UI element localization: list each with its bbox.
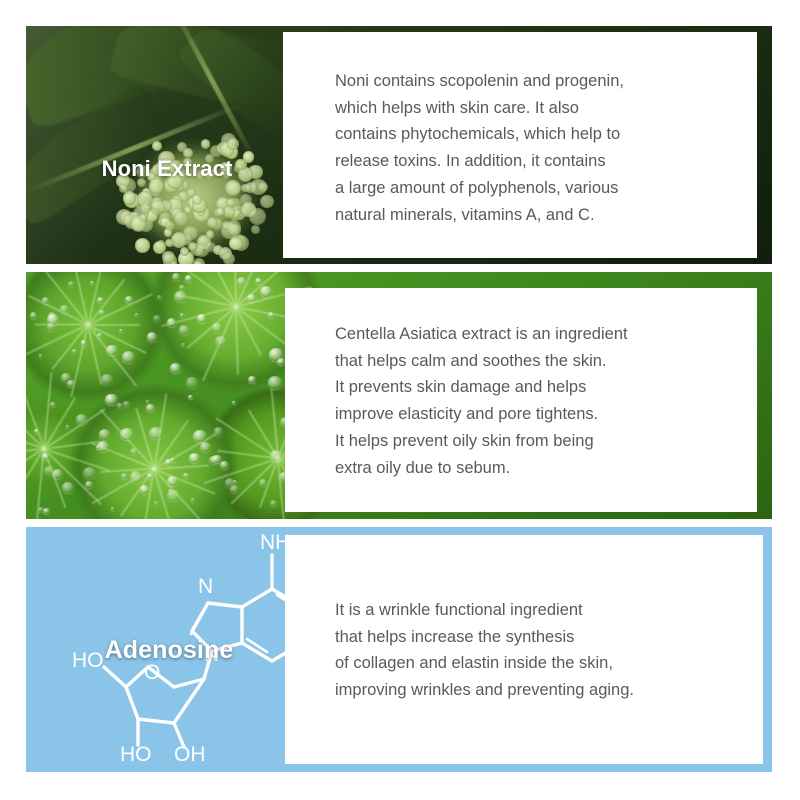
water-droplet [111, 507, 115, 510]
water-droplet [76, 414, 87, 424]
water-droplet [183, 473, 188, 478]
leaf-vein [88, 324, 140, 326]
water-droplet [105, 394, 117, 405]
ingredient-info-graphic: Noni Extract Noni contains scopolenin an… [0, 0, 800, 800]
leaf-vein [26, 324, 88, 356]
water-droplet [180, 313, 184, 317]
water-droplet [174, 291, 187, 303]
water-droplet [191, 498, 195, 502]
text-card-adenosine: It is a wrinkle functional ingredient th… [285, 535, 763, 764]
water-droplet [247, 294, 256, 302]
water-droplet [43, 508, 50, 515]
water-droplet [225, 478, 236, 488]
fruit-bump [251, 225, 260, 234]
water-droplet [153, 315, 161, 322]
fruit-bump [171, 232, 187, 248]
leaf-vein [35, 324, 88, 326]
water-droplet [123, 401, 130, 407]
fruit-bump [207, 217, 217, 227]
water-droplet [185, 275, 192, 282]
water-droplet [259, 479, 267, 486]
water-droplet [42, 297, 49, 303]
fruit-bump [229, 237, 242, 250]
fruit-bump [153, 241, 166, 254]
water-droplet [122, 351, 135, 363]
water-droplet [81, 340, 87, 345]
water-droplet [72, 349, 76, 353]
label-oh-bottom: OH [174, 743, 206, 766]
fruit-bump [170, 261, 178, 264]
water-droplet [197, 314, 206, 322]
water-droplet [268, 376, 282, 389]
water-droplet [120, 428, 134, 441]
water-droplet [68, 281, 74, 287]
fruit-bump [195, 244, 208, 257]
water-droplet [147, 473, 153, 479]
text-card-centella: Centella Asiatica extract is an ingredie… [285, 288, 757, 512]
water-droplet [260, 286, 272, 297]
water-droplet [149, 427, 163, 440]
water-droplet [140, 485, 149, 493]
water-droplet [220, 461, 229, 469]
water-droplet [179, 285, 184, 290]
water-droplet [97, 297, 103, 303]
water-droplet [255, 278, 261, 284]
panel-noni-extract: Noni Extract Noni contains scopolenin an… [26, 26, 772, 264]
water-droplet [39, 354, 43, 357]
water-droplet [121, 473, 128, 479]
water-droplet [170, 363, 181, 373]
text-card-noni: Noni contains scopolenin and progenin, w… [283, 32, 757, 258]
water-droplet [42, 453, 49, 459]
water-droplet [200, 442, 211, 452]
water-droplet [167, 490, 179, 501]
fruit-bump [174, 211, 188, 225]
water-droplet [212, 323, 221, 332]
fruit-bump [258, 182, 268, 192]
water-droplet [209, 456, 218, 464]
water-droplet [99, 429, 110, 440]
water-droplet [270, 500, 277, 507]
water-droplet [96, 446, 99, 449]
water-droplet [181, 343, 184, 346]
fruit-bump [131, 217, 146, 232]
water-droplet [47, 323, 55, 331]
water-droplet [60, 305, 68, 313]
water-droplet [157, 295, 162, 300]
description-centella: Centella Asiatica extract is an ingredie… [335, 321, 757, 481]
panel-adenosine: NH N N N HO HO OH O Adenosine It is a wr… [26, 527, 772, 772]
fruit-bump [249, 208, 266, 225]
fruit-bump [192, 194, 203, 205]
water-droplet [237, 277, 246, 285]
panel-centella-asiatica-extract: Centella Asiatica Extract Centella Asiat… [26, 272, 772, 519]
water-droplet [94, 329, 97, 332]
water-droplet [85, 481, 93, 488]
fruit-bump [123, 191, 136, 204]
water-droplet [186, 377, 198, 388]
water-droplet [193, 430, 207, 443]
water-droplet [83, 467, 96, 479]
water-droplet [90, 281, 94, 285]
water-droplet [268, 312, 274, 318]
leaf-vein [235, 307, 239, 375]
label-n-top: N [198, 575, 213, 598]
water-droplet [165, 459, 171, 465]
panel-title-adenosine: Adenosine [44, 635, 294, 666]
water-droplet [172, 273, 180, 281]
fruit-bump [260, 195, 274, 209]
water-droplet [167, 476, 178, 486]
water-droplet [97, 333, 103, 338]
water-droplet [188, 395, 193, 400]
water-droplet [62, 482, 74, 493]
water-droplet [66, 425, 70, 428]
water-droplet [101, 374, 113, 385]
water-droplet [135, 313, 138, 316]
water-droplet [130, 471, 142, 482]
panel-title-noni: Noni Extract [52, 156, 282, 183]
fruit-bump [219, 247, 232, 260]
water-droplet [232, 401, 236, 404]
description-adenosine: It is a wrinkle functional ingredient th… [335, 597, 763, 704]
water-droplet [119, 329, 123, 332]
water-droplet [106, 345, 117, 355]
fruit-bump [201, 139, 211, 149]
fruit-bump [152, 141, 162, 151]
water-droplet [50, 402, 56, 407]
water-droplet [146, 404, 155, 412]
water-droplet [270, 450, 282, 461]
water-droplet [167, 318, 176, 326]
leaf-vein [235, 306, 262, 355]
description-noni: Noni contains scopolenin and progenin, w… [335, 68, 757, 228]
water-droplet [30, 312, 37, 318]
water-droplet [125, 296, 133, 303]
fruit-bump [227, 138, 239, 150]
fruit-bump [206, 230, 214, 238]
fruit-bump [135, 238, 150, 253]
fruit-bump [165, 239, 174, 248]
water-droplet [99, 310, 104, 315]
fruit-bump [165, 221, 175, 231]
label-ho-bottom: HO [120, 743, 152, 766]
leaf-vein [154, 464, 209, 469]
water-droplet [154, 501, 158, 504]
water-droplet [117, 403, 123, 408]
water-droplet [189, 453, 200, 463]
water-droplet [215, 336, 227, 347]
water-droplet [146, 400, 150, 403]
water-droplet [130, 448, 138, 455]
water-droplet [179, 325, 189, 334]
water-droplet [214, 427, 224, 436]
water-droplet [248, 376, 256, 383]
water-droplet [147, 332, 157, 341]
